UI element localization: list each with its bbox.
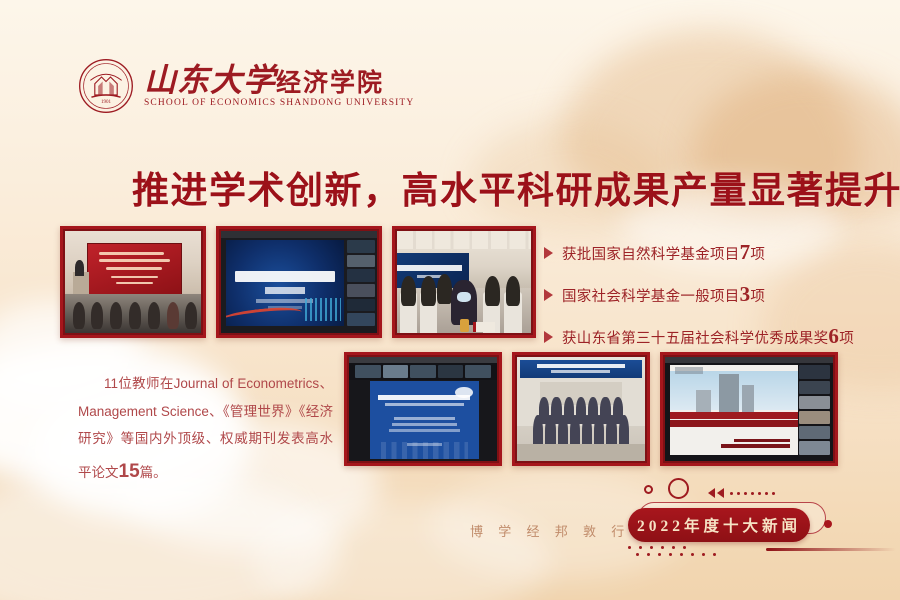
publications-paragraph: 11位教师在Journal of Econometrics、Management… <box>78 370 333 492</box>
svg-text:1901: 1901 <box>101 99 112 105</box>
paragraph-text-after: 篇。 <box>140 465 167 480</box>
bullet-text-before: 国家社会科学基金一般项目 <box>562 289 740 305</box>
bullet-text: 国家社会科学基金一般项目3项 <box>562 282 765 307</box>
bullet-text-before: 获批国家自然科学基金项目 <box>562 247 740 263</box>
logo-university-name: 山东大学 <box>144 62 276 98</box>
triangle-bullet-icon <box>544 289 553 301</box>
achievements-list: 获批国家自然科学基金项目7项 国家社会科学基金一般项目3项 获山东省第三十五届社… <box>544 240 874 366</box>
list-item: 获山东省第三十五届社会科学优秀成果奖6项 <box>544 324 874 349</box>
circle-outline-icon <box>668 478 689 499</box>
logo: 1901 山东大学经济学院 SCHOOL OF ECONOMICS SHANDO… <box>78 58 414 114</box>
logo-school-name: 经济学院 <box>276 70 384 97</box>
left-arrow-icon <box>717 488 724 498</box>
bullet-text-after: 项 <box>750 289 765 305</box>
cloud-shape <box>250 500 550 600</box>
arrow-decoration <box>708 488 775 498</box>
left-arrow-icon <box>708 488 715 498</box>
logo-name-en: SCHOOL OF ECONOMICS SHANDONG UNIVERSITY <box>144 98 414 108</box>
circle-outline-small-icon <box>644 485 653 494</box>
ribbon-label: 2022年度十大新闻 <box>637 514 801 536</box>
photo-seminar-red-screen <box>60 226 206 338</box>
photo-group-photo <box>512 352 650 466</box>
bullet-text: 获山东省第三十五届社会科学优秀成果奖6项 <box>562 324 854 349</box>
gradient-line-decoration <box>766 548 896 551</box>
bullet-text-before: 获山东省第三十五届社会科学优秀成果奖 <box>562 331 828 347</box>
bullet-number: 6 <box>828 324 839 348</box>
news-ribbon-badge: 2022年度十大新闻 <box>628 508 810 542</box>
triangle-bullet-icon <box>544 331 553 343</box>
news-ribbon-area: 2022年度十大新闻 <box>628 476 878 550</box>
logo-text-block: 山东大学经济学院 SCHOOL OF ECONOMICS SHANDONG UN… <box>144 64 414 108</box>
university-seal-icon: 1901 <box>78 58 134 114</box>
dot-trail <box>730 492 775 495</box>
photo-online-conference-slide <box>344 352 502 466</box>
paragraph-number: 15 <box>119 461 140 482</box>
poster-canvas: 1901 山东大学经济学院 SCHOOL OF ECONOMICS SHANDO… <box>0 0 900 600</box>
triangle-bullet-icon <box>544 247 553 259</box>
bullet-text: 获批国家自然科学基金项目7项 <box>562 240 765 265</box>
photo-online-lecture <box>216 226 382 338</box>
dot-grid-decoration <box>628 546 716 560</box>
list-item: 获批国家自然科学基金项目7项 <box>544 240 874 265</box>
bullet-number: 7 <box>740 240 751 264</box>
bullet-text-after: 项 <box>750 247 765 263</box>
photo-international-conference <box>660 352 838 466</box>
page-title: 推进学术创新，高水平科研成果产量显著提升 <box>132 160 900 214</box>
ribbon-dot-icon <box>824 520 832 528</box>
photo-conference-blue-screen <box>392 226 536 338</box>
bullet-number: 3 <box>740 282 751 306</box>
logo-name-cn: 山东大学经济学院 <box>144 64 414 96</box>
paragraph-text-before: 11位教师在Journal of Econometrics、Management… <box>78 376 333 480</box>
bullet-text-after: 项 <box>839 331 854 347</box>
list-item: 国家社会科学基金一般项目3项 <box>544 282 874 307</box>
